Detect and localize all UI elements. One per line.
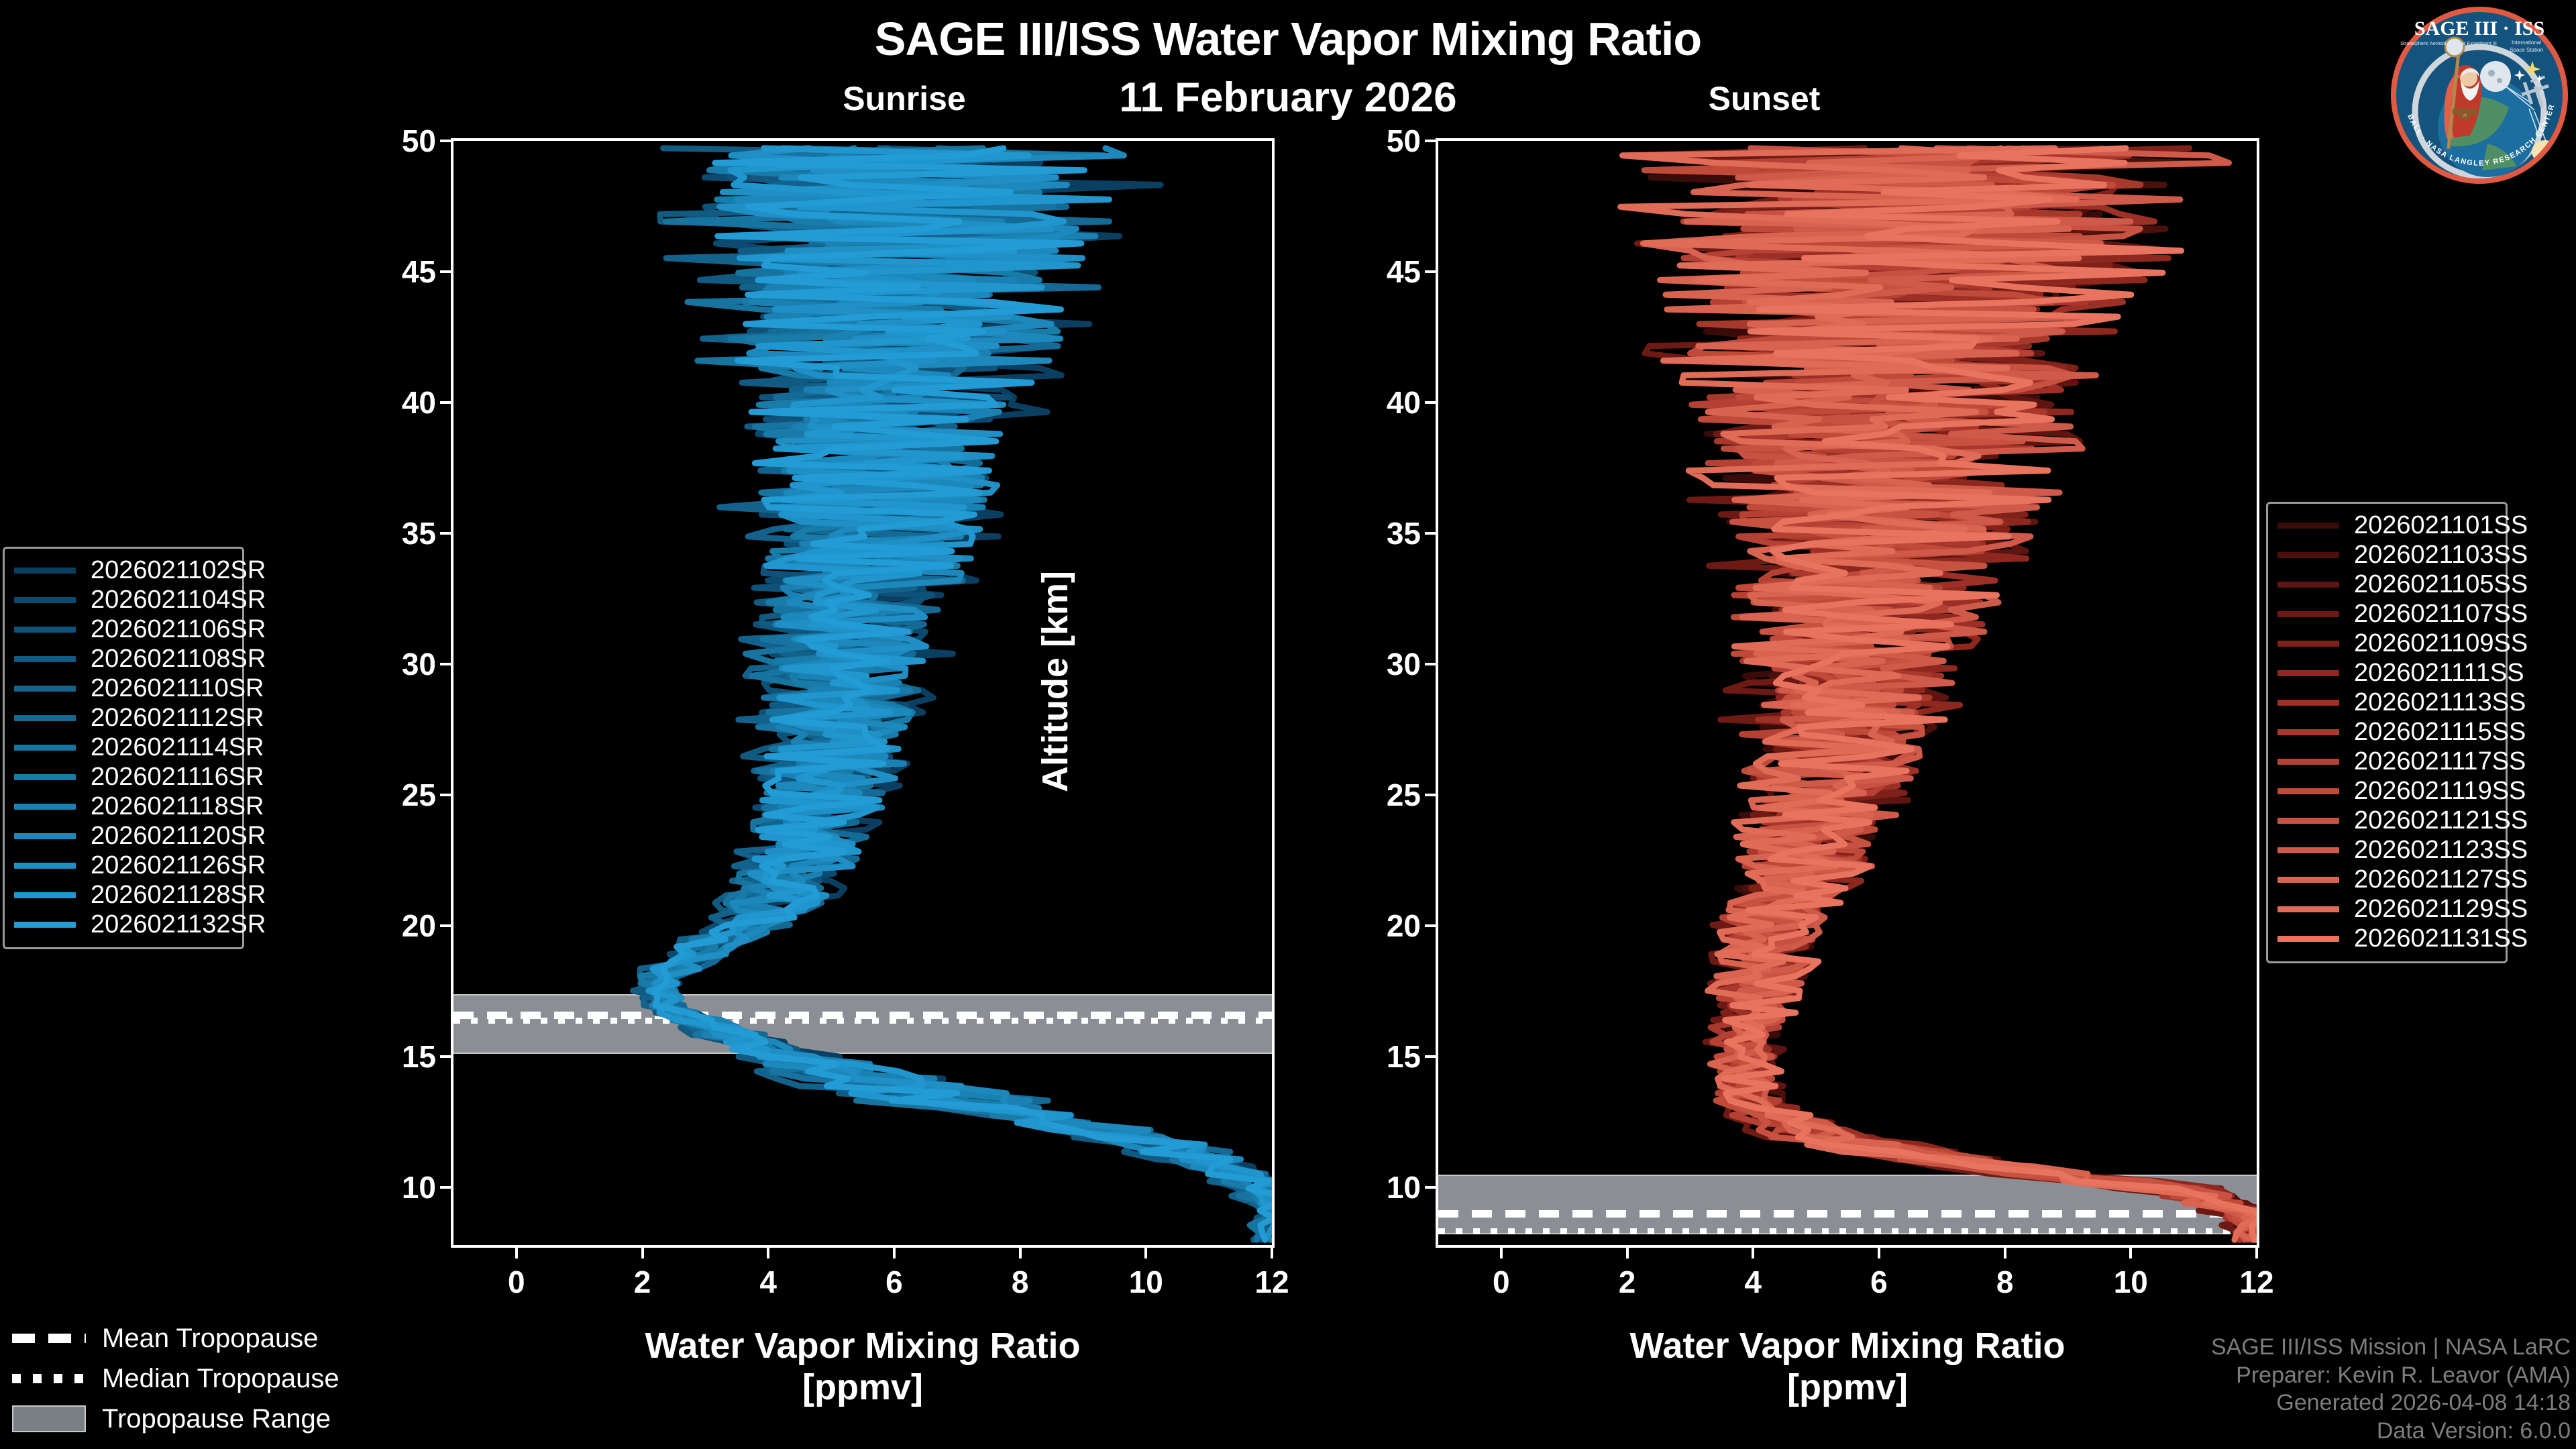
tropopause-legend-swatch-dotted bbox=[12, 1374, 86, 1383]
legend-item[interactable]: 2026021113SS bbox=[2277, 688, 2496, 717]
sunset-xtick-6: 6 bbox=[1835, 1248, 1923, 1300]
legend-item-label: 2026021113SS bbox=[2354, 688, 2526, 717]
legend-item-label: 2026021107SS bbox=[2354, 600, 2528, 629]
credits-block: SAGE III/ISS Mission | NASA LaRC Prepare… bbox=[2211, 1334, 2571, 1445]
sunrise-xtick-2: 2 bbox=[599, 1248, 686, 1300]
sunset-ytick-45: 45 bbox=[1348, 254, 1436, 290]
sunrise-ytick-35: 35 bbox=[364, 515, 451, 551]
subtitle-row: Sunrise 11 February 2026 Sunset bbox=[0, 79, 2576, 126]
legend-color-swatch bbox=[14, 774, 76, 780]
sunset-ytick-20: 20 bbox=[1348, 908, 1436, 944]
legend-color-swatch bbox=[2277, 582, 2339, 588]
tropopause-legend-label: Median Tropopause bbox=[102, 1364, 339, 1394]
observation-date: 11 February 2026 bbox=[1033, 74, 1543, 121]
sunset-ytick-10: 10 bbox=[1348, 1169, 1436, 1205]
sunset-xtick-12: 12 bbox=[2213, 1248, 2300, 1300]
sunset-x-axis-label-line1: Water Vapor Mixing Ratio bbox=[1436, 1326, 2259, 1367]
legend-color-swatch bbox=[2277, 877, 2339, 883]
legend-item[interactable]: 2026021119SS bbox=[2277, 776, 2496, 806]
legend-item[interactable]: 2026021101SS bbox=[2277, 511, 2496, 540]
legend-item-label: 2026021104SR bbox=[91, 586, 266, 614]
sunrise-xtick-0: 0 bbox=[473, 1248, 560, 1300]
sunset-plot-area bbox=[1436, 138, 2259, 1248]
legend-item[interactable]: 2026021131SS bbox=[2277, 924, 2496, 953]
legend-color-swatch bbox=[2277, 788, 2339, 794]
sunrise-ytick-25: 25 bbox=[364, 777, 451, 813]
sunset-ytick-30: 30 bbox=[1348, 646, 1436, 682]
tropopause-legend-label: Mean Tropopause bbox=[102, 1324, 318, 1354]
legend-item[interactable]: 2026021110SR bbox=[14, 674, 233, 703]
sunrise-xtick-6: 6 bbox=[851, 1248, 938, 1300]
sunrise-x-axis-label-line1: Water Vapor Mixing Ratio bbox=[451, 1326, 1275, 1367]
sunset-xtick-10: 10 bbox=[2087, 1248, 2174, 1300]
sunrise-x-axis-label: Water Vapor Mixing Ratio [ppmv] bbox=[451, 1326, 1275, 1408]
legend-item-label: 2026021117SS bbox=[2354, 747, 2526, 776]
sunrise-x-axis-label-line2: [ppmv] bbox=[451, 1367, 1275, 1409]
sunset-xtick-2: 2 bbox=[1584, 1248, 1671, 1300]
legend-item[interactable]: 2026021105SS bbox=[2277, 570, 2496, 599]
tropopause-legend-swatch-dashed bbox=[12, 1334, 86, 1343]
tropopause-legend-swatch-range bbox=[12, 1405, 86, 1432]
legend-color-swatch bbox=[14, 597, 76, 603]
legend-color-swatch bbox=[14, 686, 76, 692]
legend-color-swatch bbox=[14, 833, 76, 839]
credits-data-version: Data Version: 6.0.0 bbox=[2211, 1417, 2571, 1445]
legend-color-swatch bbox=[2277, 906, 2339, 912]
sunrise-xtick-4: 4 bbox=[724, 1248, 812, 1300]
tropopause-legend-item: Median Tropopause bbox=[12, 1358, 309, 1399]
logo-title: SAGE III · ISS bbox=[2414, 17, 2544, 40]
legend-item-label: 2026021128SR bbox=[91, 881, 266, 910]
legend-item[interactable]: 2026021108SR bbox=[14, 644, 233, 674]
legend-color-swatch bbox=[14, 627, 76, 633]
tropopause-legend-item: Mean Tropopause bbox=[12, 1318, 309, 1358]
sunrise-event-legend[interactable]: 2026021102SR2026021104SR2026021106SR2026… bbox=[3, 547, 244, 949]
legend-item[interactable]: 2026021103SS bbox=[2277, 540, 2496, 570]
legend-color-swatch bbox=[14, 568, 76, 574]
legend-item-label: 2026021115SS bbox=[2354, 718, 2526, 747]
legend-item[interactable]: 2026021115SS bbox=[2277, 717, 2496, 747]
legend-item[interactable]: 2026021126SR bbox=[14, 851, 233, 880]
sunset-profile-lines bbox=[1438, 141, 2257, 1245]
sunrise-xtick-8: 8 bbox=[977, 1248, 1064, 1300]
sunset-ytick-50: 50 bbox=[1348, 123, 1436, 159]
legend-item[interactable]: 2026021104SR bbox=[14, 585, 233, 614]
sunrise-ytick-40: 40 bbox=[364, 384, 451, 421]
sunset-x-axis-label: Water Vapor Mixing Ratio [ppmv] bbox=[1436, 1326, 2259, 1408]
sunrise-ytick-45: 45 bbox=[364, 254, 451, 290]
legend-item[interactable]: 2026021118SR bbox=[14, 792, 233, 821]
legend-color-swatch bbox=[14, 892, 76, 898]
legend-item[interactable]: 2026021111SS bbox=[2277, 658, 2496, 688]
sunset-xtick-4: 4 bbox=[1709, 1248, 1796, 1300]
credits-generated: Generated 2026-04-08 14:18 bbox=[2211, 1389, 2571, 1417]
legend-color-swatch bbox=[14, 656, 76, 662]
sunset-xtick-8: 8 bbox=[1962, 1248, 2049, 1300]
sunrise-xtick-12: 12 bbox=[1228, 1248, 1316, 1300]
logo-subtitle-left: Stratospheric Aerosol and Gas Experiment… bbox=[2400, 40, 2497, 46]
legend-item-label: 2026021101SS bbox=[2354, 511, 2528, 540]
legend-item[interactable]: 2026021123SS bbox=[2277, 835, 2496, 865]
legend-item[interactable]: 2026021102SR bbox=[14, 555, 233, 585]
tropopause-legend-item: Tropopause Range bbox=[12, 1399, 309, 1439]
legend-item[interactable]: 2026021132SR bbox=[14, 910, 233, 939]
legend-color-swatch bbox=[2277, 759, 2339, 765]
legend-item-label: 2026021112SR bbox=[91, 704, 264, 733]
legend-item[interactable]: 2026021120SR bbox=[14, 821, 233, 851]
legend-color-swatch bbox=[2277, 670, 2339, 676]
sunset-panel-label: Sunset bbox=[1630, 79, 1898, 118]
legend-item-label: 2026021118SR bbox=[91, 792, 264, 821]
svg-text:Space Station: Space Station bbox=[2510, 47, 2543, 53]
legend-item[interactable]: 2026021128SR bbox=[14, 880, 233, 910]
sunset-x-axis-label-line2: [ppmv] bbox=[1436, 1367, 2259, 1409]
legend-item[interactable]: 2026021117SS bbox=[2277, 747, 2496, 776]
sunrise-plot-area bbox=[451, 138, 1275, 1248]
legend-item-label: 2026021106SR bbox=[91, 615, 266, 644]
legend-color-swatch bbox=[14, 745, 76, 751]
legend-color-swatch bbox=[14, 922, 76, 928]
tropopause-legend-label: Tropopause Range bbox=[102, 1404, 331, 1434]
legend-item-label: 2026021110SR bbox=[91, 674, 264, 703]
sunrise-ytick-20: 20 bbox=[364, 908, 451, 944]
legend-color-swatch bbox=[2277, 700, 2339, 706]
chart-canvas: SAGE III/ISS Water Vapor Mixing Ratio Su… bbox=[0, 0, 2576, 1449]
legend-item-label: 2026021123SS bbox=[2354, 836, 2528, 865]
legend-color-swatch bbox=[2277, 729, 2339, 735]
legend-item-label: 2026021114SR bbox=[91, 733, 264, 762]
legend-item-label: 2026021121SS bbox=[2354, 806, 2528, 835]
sunrise-ytick-30: 30 bbox=[364, 646, 451, 682]
legend-item-label: 2026021132SR bbox=[91, 910, 266, 939]
legend-color-swatch bbox=[2277, 523, 2339, 529]
legend-item-label: 2026021120SR bbox=[91, 822, 266, 851]
legend-item[interactable]: 2026021116SR bbox=[14, 762, 233, 792]
legend-item[interactable]: 2026021129SS bbox=[2277, 894, 2496, 924]
credits-mission: SAGE III/ISS Mission | NASA LaRC bbox=[2211, 1334, 2571, 1361]
sunset-ytick-40: 40 bbox=[1348, 384, 1436, 421]
legend-item-label: 2026021109SS bbox=[2354, 629, 2528, 658]
legend-item[interactable]: 2026021107SS bbox=[2277, 599, 2496, 629]
sunrise-ytick-10: 10 bbox=[364, 1169, 451, 1205]
legend-item-label: 2026021103SS bbox=[2354, 541, 2528, 570]
legend-color-swatch bbox=[2277, 936, 2339, 942]
sunset-xtick-0: 0 bbox=[1458, 1248, 1545, 1300]
legend-item[interactable]: 2026021127SS bbox=[2277, 865, 2496, 894]
tropopause-legend: Mean TropopauseMedian TropopauseTropopau… bbox=[3, 1311, 318, 1447]
legend-item-label: 2026021108SR bbox=[91, 645, 266, 674]
sunrise-xtick-10: 10 bbox=[1102, 1248, 1189, 1300]
sunrise-ytick-50: 50 bbox=[364, 123, 451, 159]
legend-item[interactable]: 2026021109SS bbox=[2277, 629, 2496, 658]
sunset-event-legend[interactable]: 2026021101SS2026021103SS2026021105SS2026… bbox=[2266, 502, 2508, 963]
sunrise-profile-lines bbox=[453, 141, 1272, 1245]
legend-color-swatch bbox=[14, 715, 76, 721]
legend-item-label: 2026021126SR bbox=[91, 851, 266, 880]
legend-item[interactable]: 2026021114SR bbox=[14, 733, 233, 762]
legend-item-label: 2026021102SR bbox=[91, 556, 266, 585]
sunrise-panel-label: Sunrise bbox=[770, 79, 1038, 118]
legend-color-swatch bbox=[14, 804, 76, 810]
legend-color-swatch bbox=[2277, 818, 2339, 824]
legend-item-label: 2026021116SR bbox=[91, 763, 264, 792]
legend-item-label: 2026021111SS bbox=[2354, 659, 2524, 688]
sunset-ytick-35: 35 bbox=[1348, 515, 1436, 551]
legend-item-label: 2026021131SS bbox=[2354, 924, 2528, 953]
svg-text:International: International bbox=[2512, 40, 2541, 46]
legend-item-label: 2026021129SS bbox=[2354, 895, 2528, 924]
page-title: SAGE III/ISS Water Vapor Mixing Ratio bbox=[0, 12, 2576, 66]
legend-item-label: 2026021119SS bbox=[2354, 777, 2526, 806]
sage-iii-iss-logo: S SAGE III · ISS Stratospheric Aerosol a… bbox=[2387, 3, 2572, 188]
legend-item-label: 2026021127SS bbox=[2354, 865, 2528, 894]
sunset-ytick-15: 15 bbox=[1348, 1038, 1436, 1075]
profile-line bbox=[655, 148, 1272, 1240]
sunset-ytick-25: 25 bbox=[1348, 777, 1436, 813]
legend-color-swatch bbox=[2277, 641, 2339, 647]
sunset-y-axis-label: Altitude [km] bbox=[1034, 571, 1076, 792]
credits-preparer: Preparer: Kevin R. Leavor (AMA) bbox=[2211, 1362, 2571, 1389]
legend-item[interactable]: 2026021106SR bbox=[14, 614, 233, 644]
legend-color-swatch bbox=[14, 863, 76, 869]
sunrise-ytick-15: 15 bbox=[364, 1038, 451, 1075]
legend-color-swatch bbox=[2277, 611, 2339, 617]
legend-color-swatch bbox=[2277, 552, 2339, 558]
legend-item-label: 2026021105SS bbox=[2354, 570, 2528, 599]
legend-color-swatch bbox=[2277, 847, 2339, 853]
legend-item[interactable]: 2026021112SR bbox=[14, 703, 233, 733]
legend-item[interactable]: 2026021121SS bbox=[2277, 806, 2496, 835]
